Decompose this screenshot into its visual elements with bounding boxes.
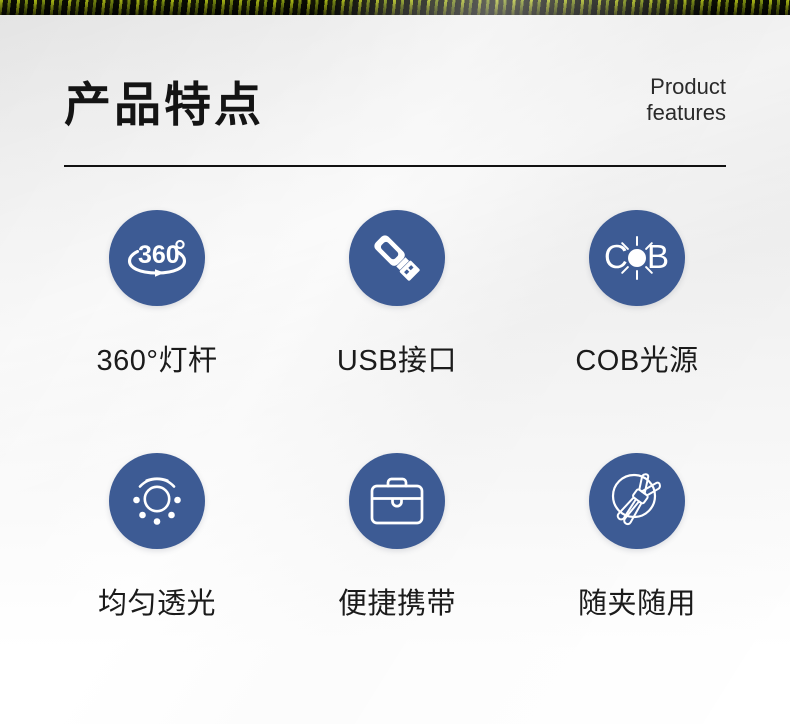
feature-grid: 360 360°灯杆 bbox=[37, 210, 757, 696]
strip-shadow-overlay bbox=[0, 0, 790, 15]
feature-badge: C B bbox=[589, 210, 685, 306]
page-title-english: Product features bbox=[647, 74, 727, 126]
feature-item-uniform-light[interactable]: 均匀透光 bbox=[37, 453, 277, 696]
uniform-light-icon bbox=[128, 472, 186, 530]
feature-badge bbox=[589, 453, 685, 549]
feature-label: USB接口 bbox=[337, 344, 457, 378]
rotate-360-icon: 360 bbox=[125, 235, 189, 281]
section-header: 产品特点 Product features bbox=[64, 72, 726, 168]
page-title-english-line1: Product bbox=[647, 74, 727, 100]
feature-item-360[interactable]: 360 360°灯杆 bbox=[37, 210, 277, 453]
usb-flash-drive-icon bbox=[367, 228, 427, 288]
feature-item-clamp[interactable]: 随夹随用 bbox=[517, 453, 757, 696]
feature-label: 随夹随用 bbox=[578, 587, 696, 621]
feature-badge bbox=[349, 210, 445, 306]
cob-light-source-icon: C B bbox=[603, 232, 671, 284]
svg-text:360: 360 bbox=[138, 241, 180, 269]
briefcase-icon bbox=[369, 475, 425, 527]
clamp-clip-icon bbox=[606, 470, 668, 532]
feature-item-usb[interactable]: USB接口 bbox=[277, 210, 517, 453]
feature-item-cob[interactable]: C B COB光源 bbox=[517, 210, 757, 453]
feature-label: 均匀透光 bbox=[98, 587, 216, 621]
feature-item-portable[interactable]: 便捷携带 bbox=[277, 453, 517, 696]
feature-badge bbox=[109, 453, 205, 549]
feature-label: 360°灯杆 bbox=[97, 344, 218, 378]
feature-badge bbox=[349, 453, 445, 549]
product-features-page: 产品特点 Product features 360 360°灯杆 bbox=[0, 0, 790, 724]
feature-label: 便捷携带 bbox=[338, 587, 456, 621]
feature-badge: 360 bbox=[109, 210, 205, 306]
header-divider bbox=[64, 165, 726, 167]
page-title: 产品特点 bbox=[64, 72, 264, 138]
feature-label: COB光源 bbox=[575, 344, 698, 378]
top-photo-strip bbox=[0, 0, 790, 15]
page-title-english-line2: features bbox=[647, 100, 727, 126]
